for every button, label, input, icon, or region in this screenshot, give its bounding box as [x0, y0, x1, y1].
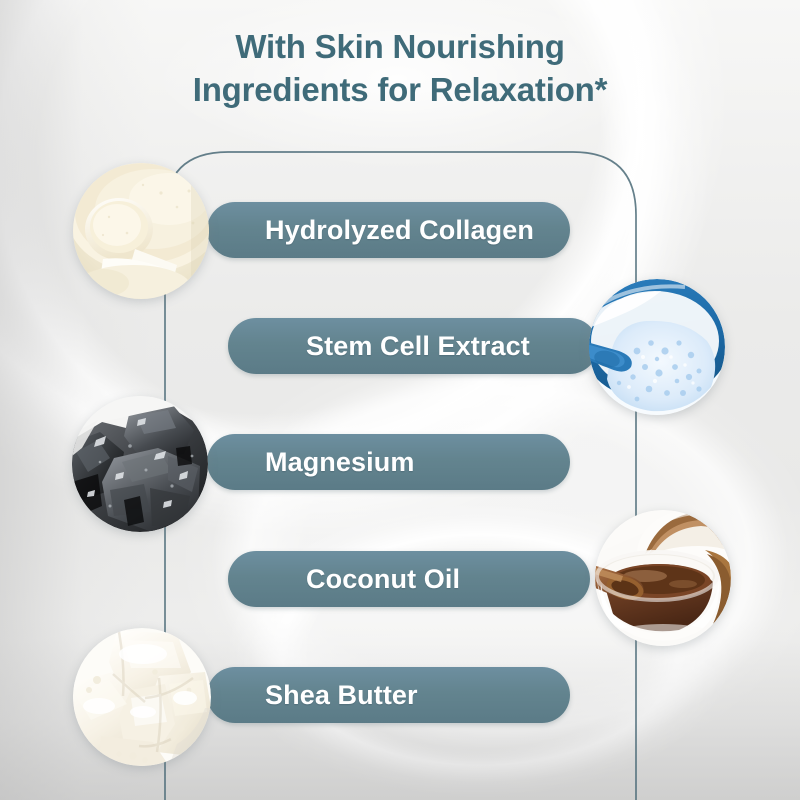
shea-butter-photo — [73, 628, 211, 766]
ingredient-pill-stem-cell-extract[interactable]: Stem Cell Extract — [228, 318, 598, 374]
ingredient-label: Magnesium — [265, 447, 414, 478]
page-title-line-2: Ingredients for Relaxation* — [0, 69, 800, 112]
coconut-oil-photo — [595, 510, 731, 646]
ingredient-label: Coconut Oil — [306, 564, 460, 595]
ingredient-pill-hydrolyzed-collagen[interactable]: Hydrolyzed Collagen — [207, 202, 570, 258]
ingredient-label: Hydrolyzed Collagen — [265, 215, 534, 246]
ingredient-label: Stem Cell Extract — [306, 331, 530, 362]
ingredient-pill-coconut-oil[interactable]: Coconut Oil — [228, 551, 590, 607]
page-title: With Skin Nourishing Ingredients for Rel… — [0, 26, 800, 112]
ingredient-pill-magnesium[interactable]: Magnesium — [207, 434, 570, 490]
ingredient-pill-shea-butter[interactable]: Shea Butter — [207, 667, 570, 723]
ingredient-label: Shea Butter — [265, 680, 418, 711]
collagen-powder-photo — [73, 163, 209, 299]
stem-cell-extract-photo — [589, 279, 725, 415]
ingredients-infographic: With Skin Nourishing Ingredients for Rel… — [0, 0, 800, 800]
page-title-line-1: With Skin Nourishing — [0, 26, 800, 69]
magnesium-mineral-photo — [72, 396, 208, 532]
